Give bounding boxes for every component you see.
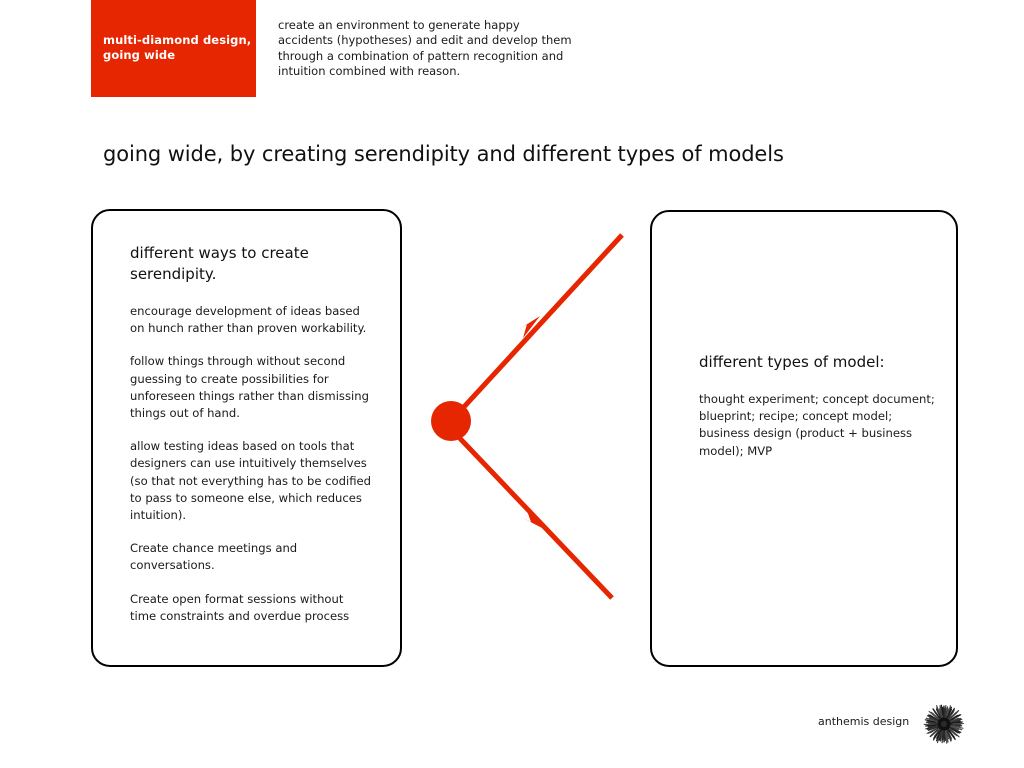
page-title: going wide, by creating serendipity and … — [103, 140, 784, 168]
brand-label: anthemis design — [818, 715, 909, 728]
panel-right-paragraph: thought experiment; concept document; bl… — [699, 391, 936, 460]
panel-left-paragraph: Create chance meetings and conversations… — [130, 540, 372, 574]
panel-left-paragraph: Create open format sessions without time… — [130, 591, 372, 625]
panel-right-content: different types of model: thought experi… — [699, 352, 936, 460]
footer-branding: anthemis design — [818, 703, 963, 748]
anthemis-flower-logo-icon — [923, 703, 965, 745]
panel-left-content: different ways to create serendipity. en… — [130, 243, 372, 625]
panel-left-paragraph: allow testing ideas based on tools that … — [130, 438, 372, 524]
panel-types-of-model: different types of model: thought experi… — [650, 210, 958, 667]
diverging-arrows-diagram — [410, 200, 650, 630]
origin-node — [431, 401, 471, 441]
header-tag-label: multi-diamond design,going wide — [103, 33, 253, 63]
upper-diverging-arrow — [451, 235, 622, 421]
header-tag-block: multi-diamond design,going wide — [91, 0, 256, 97]
panel-left-paragraph: follow things through without second gue… — [130, 353, 372, 422]
header-intro-text: create an environment to generate happy … — [278, 18, 578, 80]
panel-ways-to-create-serendipity: different ways to create serendipity. en… — [91, 209, 402, 667]
panel-left-paragraph: encourage development of ideas based on … — [130, 303, 372, 337]
panel-right-heading: different types of model: — [699, 352, 936, 373]
panel-left-heading: different ways to create serendipity. — [130, 243, 372, 285]
lower-diverging-arrow — [451, 429, 612, 598]
